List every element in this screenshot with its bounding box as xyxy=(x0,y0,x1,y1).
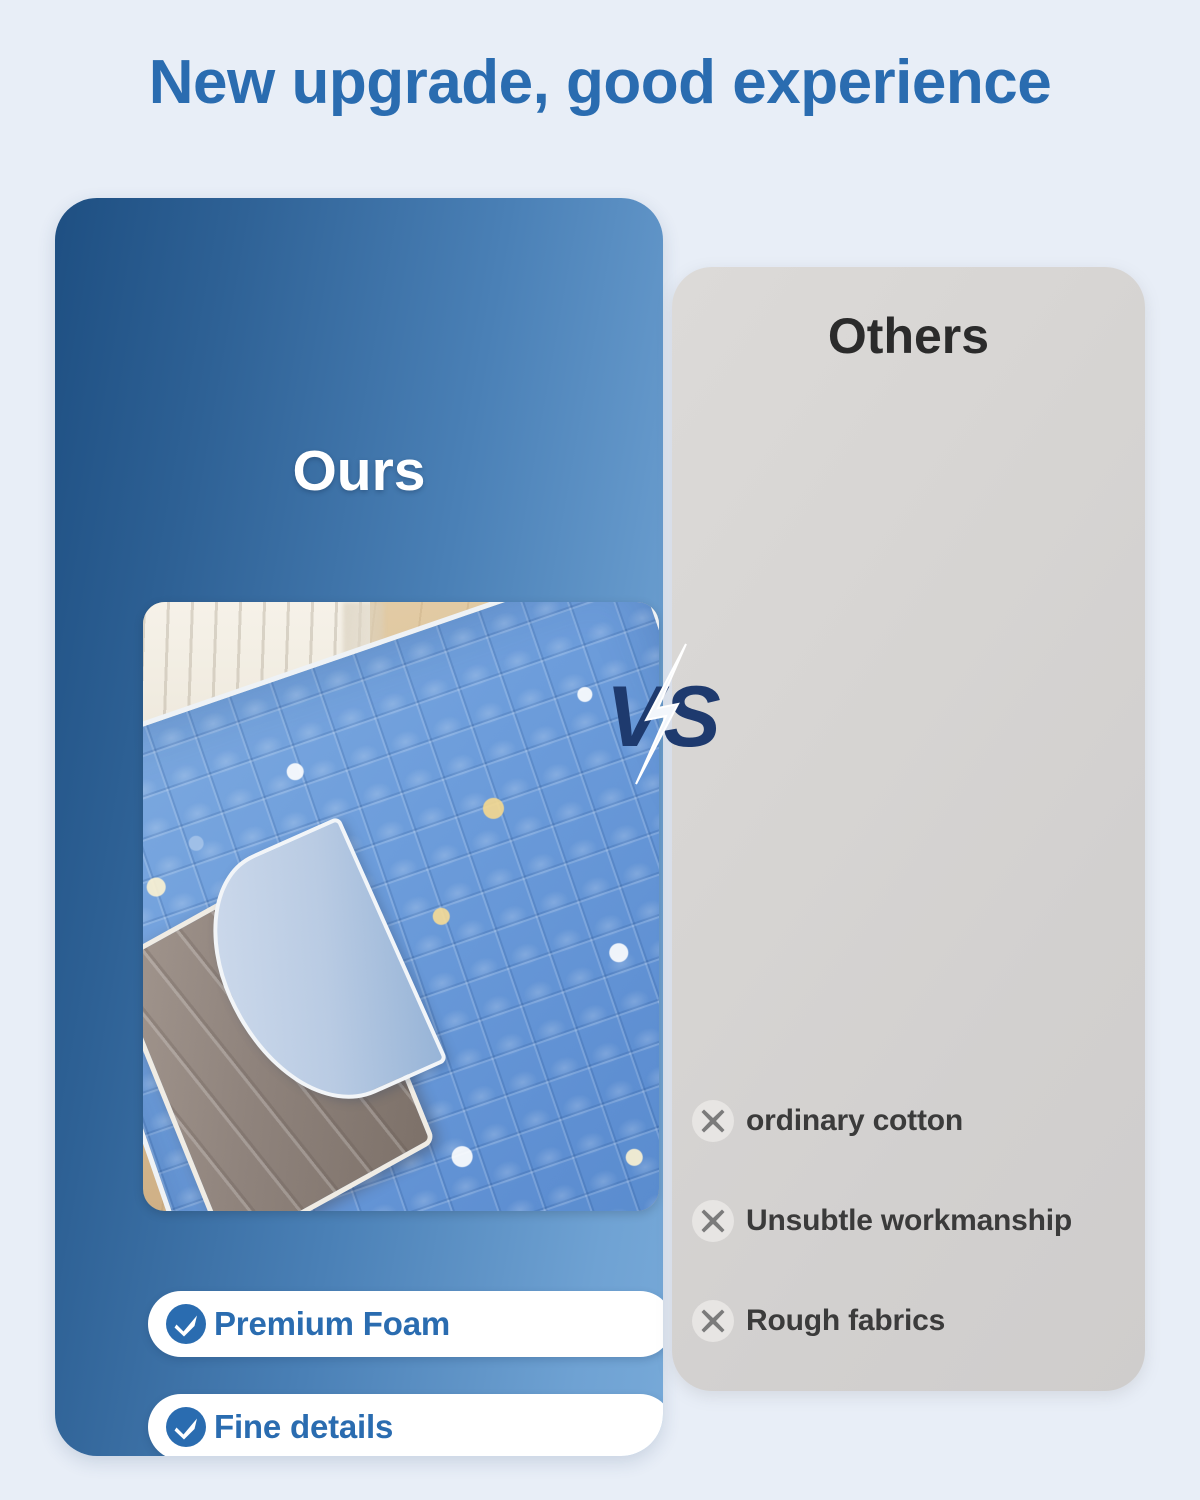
versus-badge: VS xyxy=(600,638,730,788)
ours-feature-list: Premium Foam Fine details soft microfibe… xyxy=(148,1291,663,1456)
feature-pill: Premium Foam xyxy=(148,1291,663,1357)
feature-label: Premium Foam xyxy=(214,1305,450,1343)
drawback-row: ordinary cotton xyxy=(690,1093,1150,1149)
drawback-row: Unsubtle workmanship xyxy=(690,1193,1150,1249)
drawback-row: Rough fabrics xyxy=(690,1293,1150,1349)
check-circle-icon xyxy=(164,1302,208,1346)
feature-label: Fine details xyxy=(214,1408,393,1446)
others-card-title: Others xyxy=(672,307,1145,365)
ours-card-title: Ours xyxy=(55,438,663,504)
page-title: New upgrade, good experience xyxy=(0,48,1200,117)
drawback-label: Unsubtle workmanship xyxy=(746,1204,1072,1238)
ours-card: Ours Premium Foam xyxy=(55,198,663,1456)
x-circle-icon xyxy=(690,1098,736,1144)
feature-pill: Fine details xyxy=(148,1394,663,1456)
check-circle-icon xyxy=(164,1405,208,1449)
drawback-label: ordinary cotton xyxy=(746,1104,963,1138)
x-circle-icon xyxy=(690,1298,736,1344)
ours-product-photo xyxy=(143,602,659,1211)
drawback-label: Rough fabrics xyxy=(746,1304,945,1338)
others-drawback-list: ordinary cotton Unsubtle workmanship Rou… xyxy=(690,1093,1150,1349)
x-circle-icon xyxy=(690,1198,736,1244)
